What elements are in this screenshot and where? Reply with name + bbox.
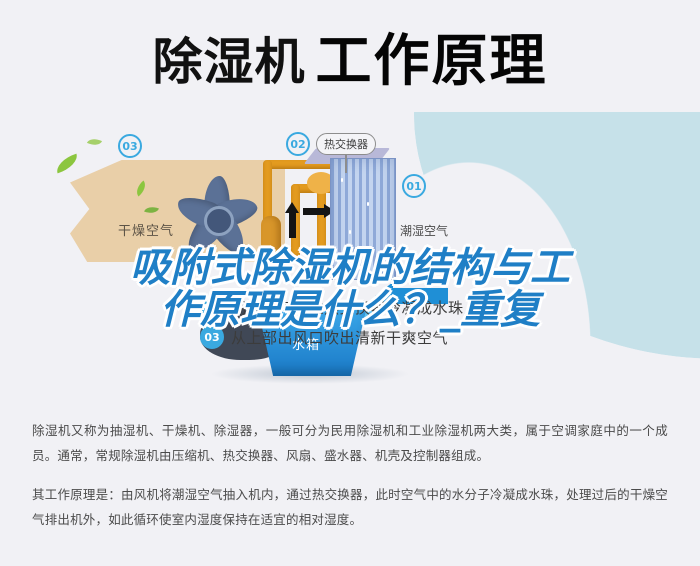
body-paragraph-1: 除湿机又称为抽湿机、干燥机、除湿器，一般可分为民用除湿机和工业除湿机两大类，属于… [32,418,668,468]
compressor-cylinder [261,216,281,260]
leaf-icon [87,136,102,149]
callout-03-dry-air: 03 [118,134,142,158]
flow-arrow-right-icon [303,208,325,215]
callout-01-humid-air: 01 潮湿空气 [402,174,448,239]
page-title-primary: 除湿机 [153,37,306,87]
flow-arrow-up-icon [289,212,296,238]
article-body: 除湿机又称为抽湿机、干燥机、除湿器，一般可分为民用除湿机和工业除湿机两大类，属于… [32,418,668,532]
callout-number-badge: 02 [286,132,310,156]
pipe-segment [317,184,326,258]
callout-number-badge: 03 [118,134,142,158]
body-paragraph-2: 其工作原理是：由风机将潮湿空气抽入机内，通过热交换器，此时空气中的水分子冷凝成水… [32,482,668,532]
condensation-droplets [330,158,394,278]
leaf-icon [54,154,81,174]
step-number-badge: 02 [200,295,224,319]
callout-02-heat-exchanger: 02 热交换器 [286,132,376,156]
step-item: 03 从上部出风口吹出清新干爽空气 [200,322,696,352]
step-label: 从上部出风口吹出清新干爽空气 [231,327,448,348]
page-header: 除湿机 工作原理 [0,22,700,102]
step-list: 02 潮湿空气经过热交换器冷凝成水珠 03 从上部出风口吹出清新干爽空气 [196,292,696,352]
dry-air-arrow-label: 干燥空气 [118,220,174,239]
page-root: 除湿机 工作原理 干燥空气 [0,0,700,566]
dehumidifier-diagram: 干燥空气 [0,112,700,402]
callout-label: 潮湿空气 [400,222,448,239]
step-number-badge: 03 [200,325,224,349]
step-item: 02 潮湿空气经过热交换器冷凝成水珠 [200,292,696,322]
step-label: 潮湿空气经过热交换器冷凝成水珠 [231,297,464,318]
page-title-secondary: 工作原理 [316,34,548,90]
callout-bubble-label: 热交换器 [316,133,376,155]
callout-number-badge: 01 [402,174,426,198]
fan-icon [168,170,264,266]
fan-hub [204,206,234,236]
